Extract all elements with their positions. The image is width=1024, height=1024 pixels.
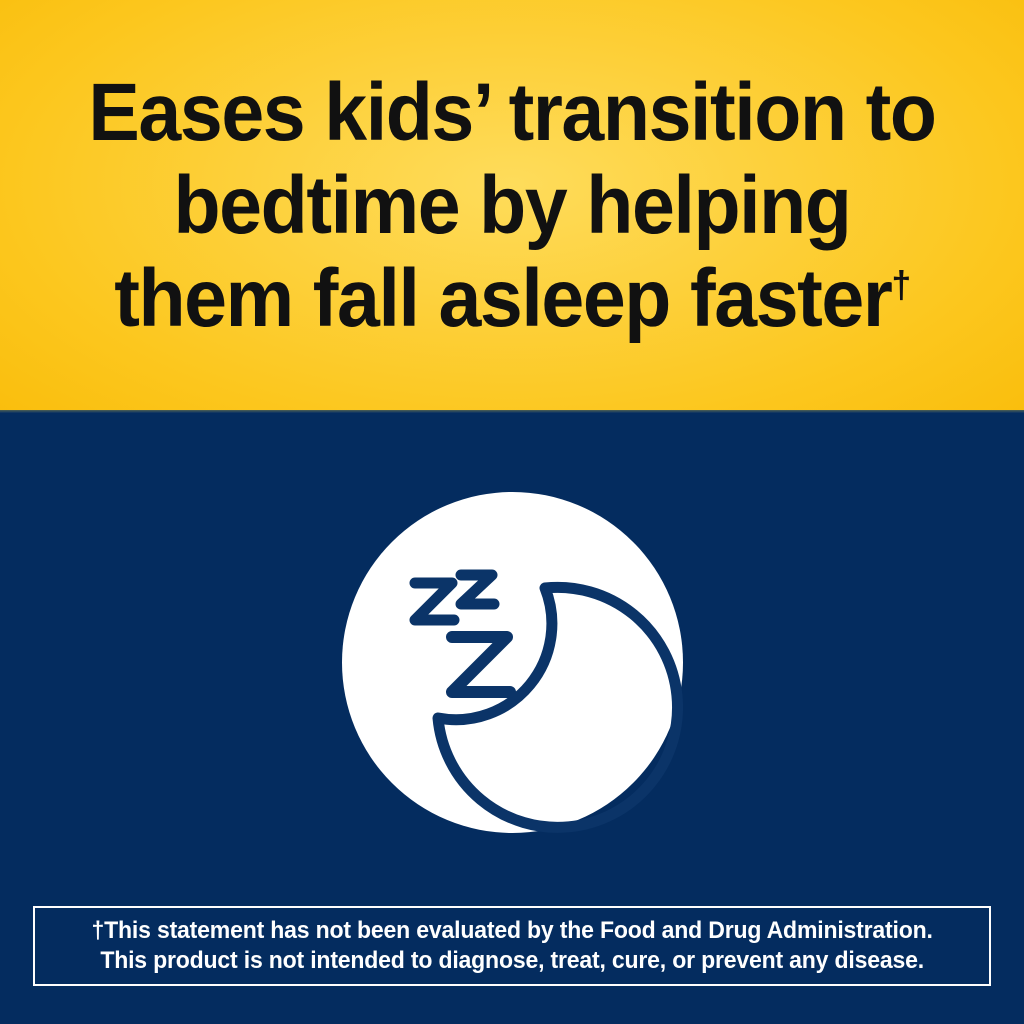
headline-line-3: them fall asleep faster†	[61, 252, 963, 345]
footnote-marker: †	[891, 263, 909, 305]
headline-line-1: Eases kids’ transition to	[61, 66, 963, 159]
headline-panel: Eases kids’ transition to bedtime by hel…	[0, 0, 1024, 410]
sleep-badge	[342, 492, 683, 833]
product-claim-graphic: Eases kids’ transition to bedtime by hel…	[0, 0, 1024, 1024]
badge-circle	[342, 492, 683, 833]
headline-line-3-text: them fall asleep faster	[114, 253, 891, 344]
headline-line-2: bedtime by helping	[61, 159, 963, 252]
fda-disclaimer-text: †This statement has not been evaluated b…	[91, 916, 932, 976]
fda-disclaimer-box: †This statement has not been evaluated b…	[33, 906, 991, 986]
panel-divider	[0, 410, 1024, 413]
disclaimer-line-2: This product is not intended to diagnose…	[91, 946, 932, 976]
page-title: Eases kids’ transition to bedtime by hel…	[61, 66, 963, 345]
disclaimer-line-1: †This statement has not been evaluated b…	[91, 916, 932, 946]
